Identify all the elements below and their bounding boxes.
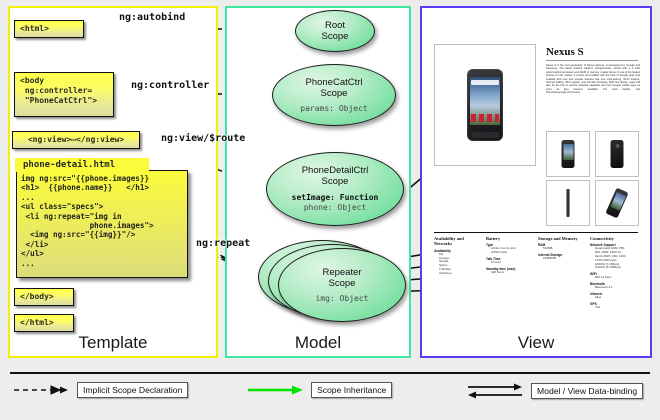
specs-value-bluetooth-0: Bluetooth 2.1 [590,286,638,290]
specs-value-availability-5: Vodafone [434,272,482,276]
specs-table: Availability and Networks Availability M… [434,236,638,309]
edge-label-autobind: ng:autobind [119,12,185,23]
specs-value-wifi-0: 802.11 b/g/n [590,276,638,280]
specs-rule [434,232,638,233]
code-box-ng-view[interactable]: <ng:view>▭</ng:view> [12,131,140,149]
specs-column-storage: Storage and Memory RAM 512MB Internal St… [538,236,586,309]
view-title-rule [546,60,638,61]
thumbnail-phone-tilt[interactable] [595,180,639,226]
code-box-html-open[interactable]: <html> [14,20,84,38]
scope-repeater-line1: Repeater [322,267,361,278]
thumbnail-phone-front[interactable] [546,131,590,177]
scope-phonedetailctrl-line2: Scope [322,176,349,187]
phone-soft-keys [471,132,499,138]
dashed-arrow-icon [12,383,70,397]
legend-label-implicit-scope: Implicit Scope Declaration [77,382,188,398]
legend-item-implicit-scope: Implicit Scope Declaration [12,382,188,398]
legend-divider [10,372,650,374]
green-arrow-icon [246,383,304,397]
code-box-body-open[interactable]: <body ng:controller= "PhoneCatCtrl"> [14,72,114,117]
specs-value-gps-0: true [590,306,638,310]
specs-value-network-5: HSUPA (5.76Mbps) [590,266,638,270]
column-title-model: Model [227,330,409,356]
phone-edge-thumb-icon [567,189,570,217]
phone-app-icons [471,114,499,122]
specs-heading-connectivity: Connectivity [590,236,638,241]
scope-phonecatctrl-line1: PhoneCatCtrl [305,77,362,88]
view-phone-description: Nexus S is the next generation of Nexus … [546,64,640,124]
specs-heading-availability: Availability and Networks [434,236,482,247]
scope-repeater[interactable]: Repeater Scope img: Object [278,248,406,322]
specs-value-infrared-0: false [590,296,638,300]
specs-column-connectivity: Connectivity Network Support Quad-band G… [590,236,638,309]
specs-value-battery-type-1: (1500 mAH) [486,251,534,255]
scope-phonecatctrl-line2: Scope [321,88,348,99]
scope-phonedetailctrl-attr-setimage: setImage: Function [292,193,379,203]
scope-phonedetailctrl[interactable]: PhoneDetailCtrl Scope setImage: Function… [266,152,404,226]
phone-front-thumb-icon [562,140,575,168]
phone-detail-template-card[interactable]: phone-detail.html img ng:src="{{phone.im… [16,170,188,278]
specs-heading-battery: Battery [486,236,534,241]
code-box-body-close[interactable]: </body> [14,288,74,306]
edge-label-route: ng:view/$route [161,133,245,144]
double-arrow-icon [466,382,524,400]
specs-value-battery-standby-0: 428 hours [486,271,534,275]
column-title-template: Template [10,330,216,356]
edge-label-repeat: ng:repeat [196,238,250,249]
legend-item-data-binding: Model / View Data-binding [466,382,643,400]
scope-repeater-attr-img: img: Object [316,294,369,304]
specs-value-internal-storage-0: 16384MB [538,257,586,261]
phone-search-bar [471,80,499,85]
legend-label-scope-inheritance: Scope Inheritance [311,382,392,398]
scope-repeater-line2: Scope [329,278,356,289]
phone-back-thumb-icon [611,140,624,168]
scope-root-line2: Scope [322,31,349,42]
scope-root-line1: Root [325,20,345,31]
hero-image-frame[interactable] [434,44,536,166]
specs-column-availability: Availability and Networks Availability M… [434,236,482,309]
rendered-view-page: Nexus S Nexus S is the next generation o… [430,14,642,336]
specs-heading-storage: Storage and Memory [538,236,586,241]
legend-label-data-binding: Model / View Data-binding [531,383,643,399]
phone-hero-image [467,69,503,141]
specs-value-ram-0: 512MB [538,247,586,251]
scope-phonedetailctrl-attr-phone: phone: Object [304,203,367,213]
diagram-stage: Template <html> <body ng:controller= "Ph… [0,0,660,420]
specs-column-battery: Battery Type Lithium Ion (Li-Ion) (1500 … [486,236,534,309]
edge-label-controller: ng:controller [131,80,209,91]
phone-detail-filename: phone-detail.html [15,158,149,172]
phone-tilt-thumb-icon [605,188,628,219]
view-phone-title: Nexus S [546,46,584,58]
phone-detail-code: img ng:src="{{phone.images}} <h1> {{phon… [21,174,184,268]
thumbnail-phone-edge[interactable] [546,180,590,226]
scope-phonecatctrl[interactable]: PhoneCatCtrl Scope params: Object [272,64,396,126]
scope-root[interactable]: Root Scope [295,10,375,52]
code-box-html-close[interactable]: </html> [14,314,74,332]
thumbnail-phone-back[interactable] [595,131,639,177]
scope-phonecatctrl-attr-params: params: Object [300,104,367,114]
scope-phonedetailctrl-line1: PhoneDetailCtrl [302,165,369,176]
specs-value-battery-talk-0: 6 hours [486,261,534,265]
legend-item-scope-inheritance: Scope Inheritance [246,382,392,398]
